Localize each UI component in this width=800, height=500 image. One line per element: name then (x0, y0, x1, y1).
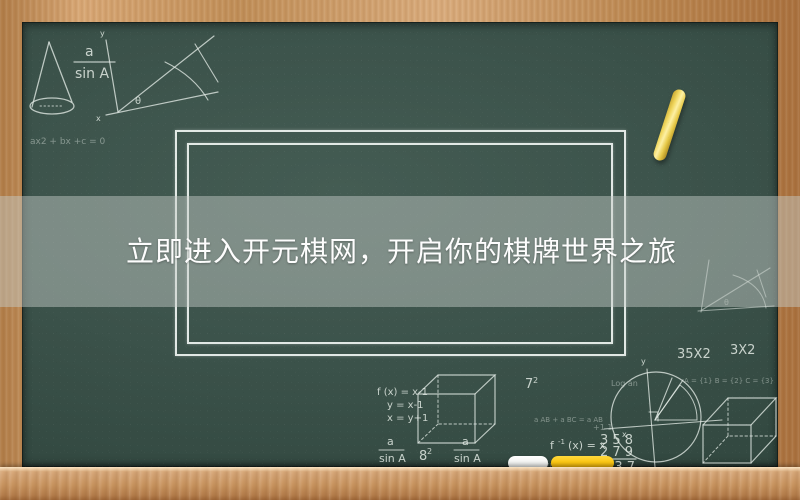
power-seven-squared: 7 2 (525, 376, 538, 392)
svg-text:x: x (622, 430, 627, 439)
svg-text:Log an: Log an (611, 379, 638, 388)
svg-text:sin A: sin A (454, 452, 481, 465)
svg-text:a AB + a BC = a AB: a AB + a BC = a AB (534, 416, 603, 424)
angle-diagram-topleft: y x θ (96, 29, 218, 123)
svg-text:3 5 8: 3 5 8 (600, 433, 633, 448)
svg-text:2: 2 (533, 376, 538, 385)
svg-text:y: y (641, 357, 646, 366)
svg-text:sin A: sin A (379, 452, 406, 465)
quadratic-equation-topleft: ax2 + bx +c = 0 (30, 137, 105, 147)
cone-drawing (30, 42, 74, 114)
log-label: Log an (611, 379, 638, 388)
cube-drawing-center (418, 375, 495, 443)
svg-text:8: 8 (419, 449, 427, 464)
fraction-a-over-sina-topleft: a sin A (74, 44, 115, 82)
wooden-chalk-tray (0, 467, 800, 500)
multiplication-expressions: 35X2 3X2 (677, 343, 755, 362)
function-equations-bottomcenter: f (x) = x-1 y = x-1 x = y+1 (377, 387, 428, 424)
yellow-chalk-stick-icon[interactable] (652, 88, 687, 162)
svg-text:a: a (387, 435, 394, 448)
fraction-a-over-sina-bottomleft: a sin A (379, 435, 406, 465)
svg-text:(x) = x: (x) = x (568, 439, 606, 452)
tray-lip (0, 467, 800, 472)
svg-text:sin A: sin A (75, 66, 110, 82)
svg-text:y = x-1: y = x-1 (387, 400, 424, 411)
set-expression: A = {1} B = {2} C = {3} (684, 377, 774, 385)
cube-drawing-right (703, 398, 776, 463)
svg-text:-1: -1 (558, 438, 565, 446)
svg-text:x = y+1: x = y+1 (387, 413, 428, 424)
fraction-a-over-sina-bottomcenter: a sin A (454, 435, 481, 465)
svg-text:a: a (85, 44, 94, 60)
svg-text:7: 7 (525, 377, 533, 392)
svg-text:35X2: 35X2 (677, 347, 711, 362)
page-title: 立即进入开元棋网，开启你的棋牌世界之旅 (126, 196, 686, 307)
svg-text:a: a (462, 435, 469, 448)
svg-text:ax2 + bx +c = 0: ax2 + bx +c = 0 (30, 137, 105, 147)
svg-text:y: y (100, 29, 105, 38)
inverse-function-expression: f -1 (x) = x (550, 438, 606, 452)
chalkboard-banner: a sin A y x θ ax2 + bx +c = 0 f (0, 0, 800, 500)
svg-text:A = {1} B = {2} C = {3}: A = {1} B = {2} C = {3} (684, 377, 774, 385)
vector-sum-expression: a AB + a BC = a AB (534, 416, 603, 424)
svg-text:f: f (550, 439, 555, 452)
svg-text:+1 1: +1 1 (593, 423, 612, 432)
power-eight-squared: 8 2 (419, 447, 432, 464)
circle-polar-diagram: y x (604, 357, 722, 467)
svg-text:3X2: 3X2 (730, 343, 755, 358)
svg-text:2: 2 (427, 447, 432, 456)
svg-text:x: x (96, 114, 101, 123)
svg-text:f (x) = x-1: f (x) = x-1 (377, 387, 428, 398)
svg-text:θ: θ (135, 96, 141, 107)
